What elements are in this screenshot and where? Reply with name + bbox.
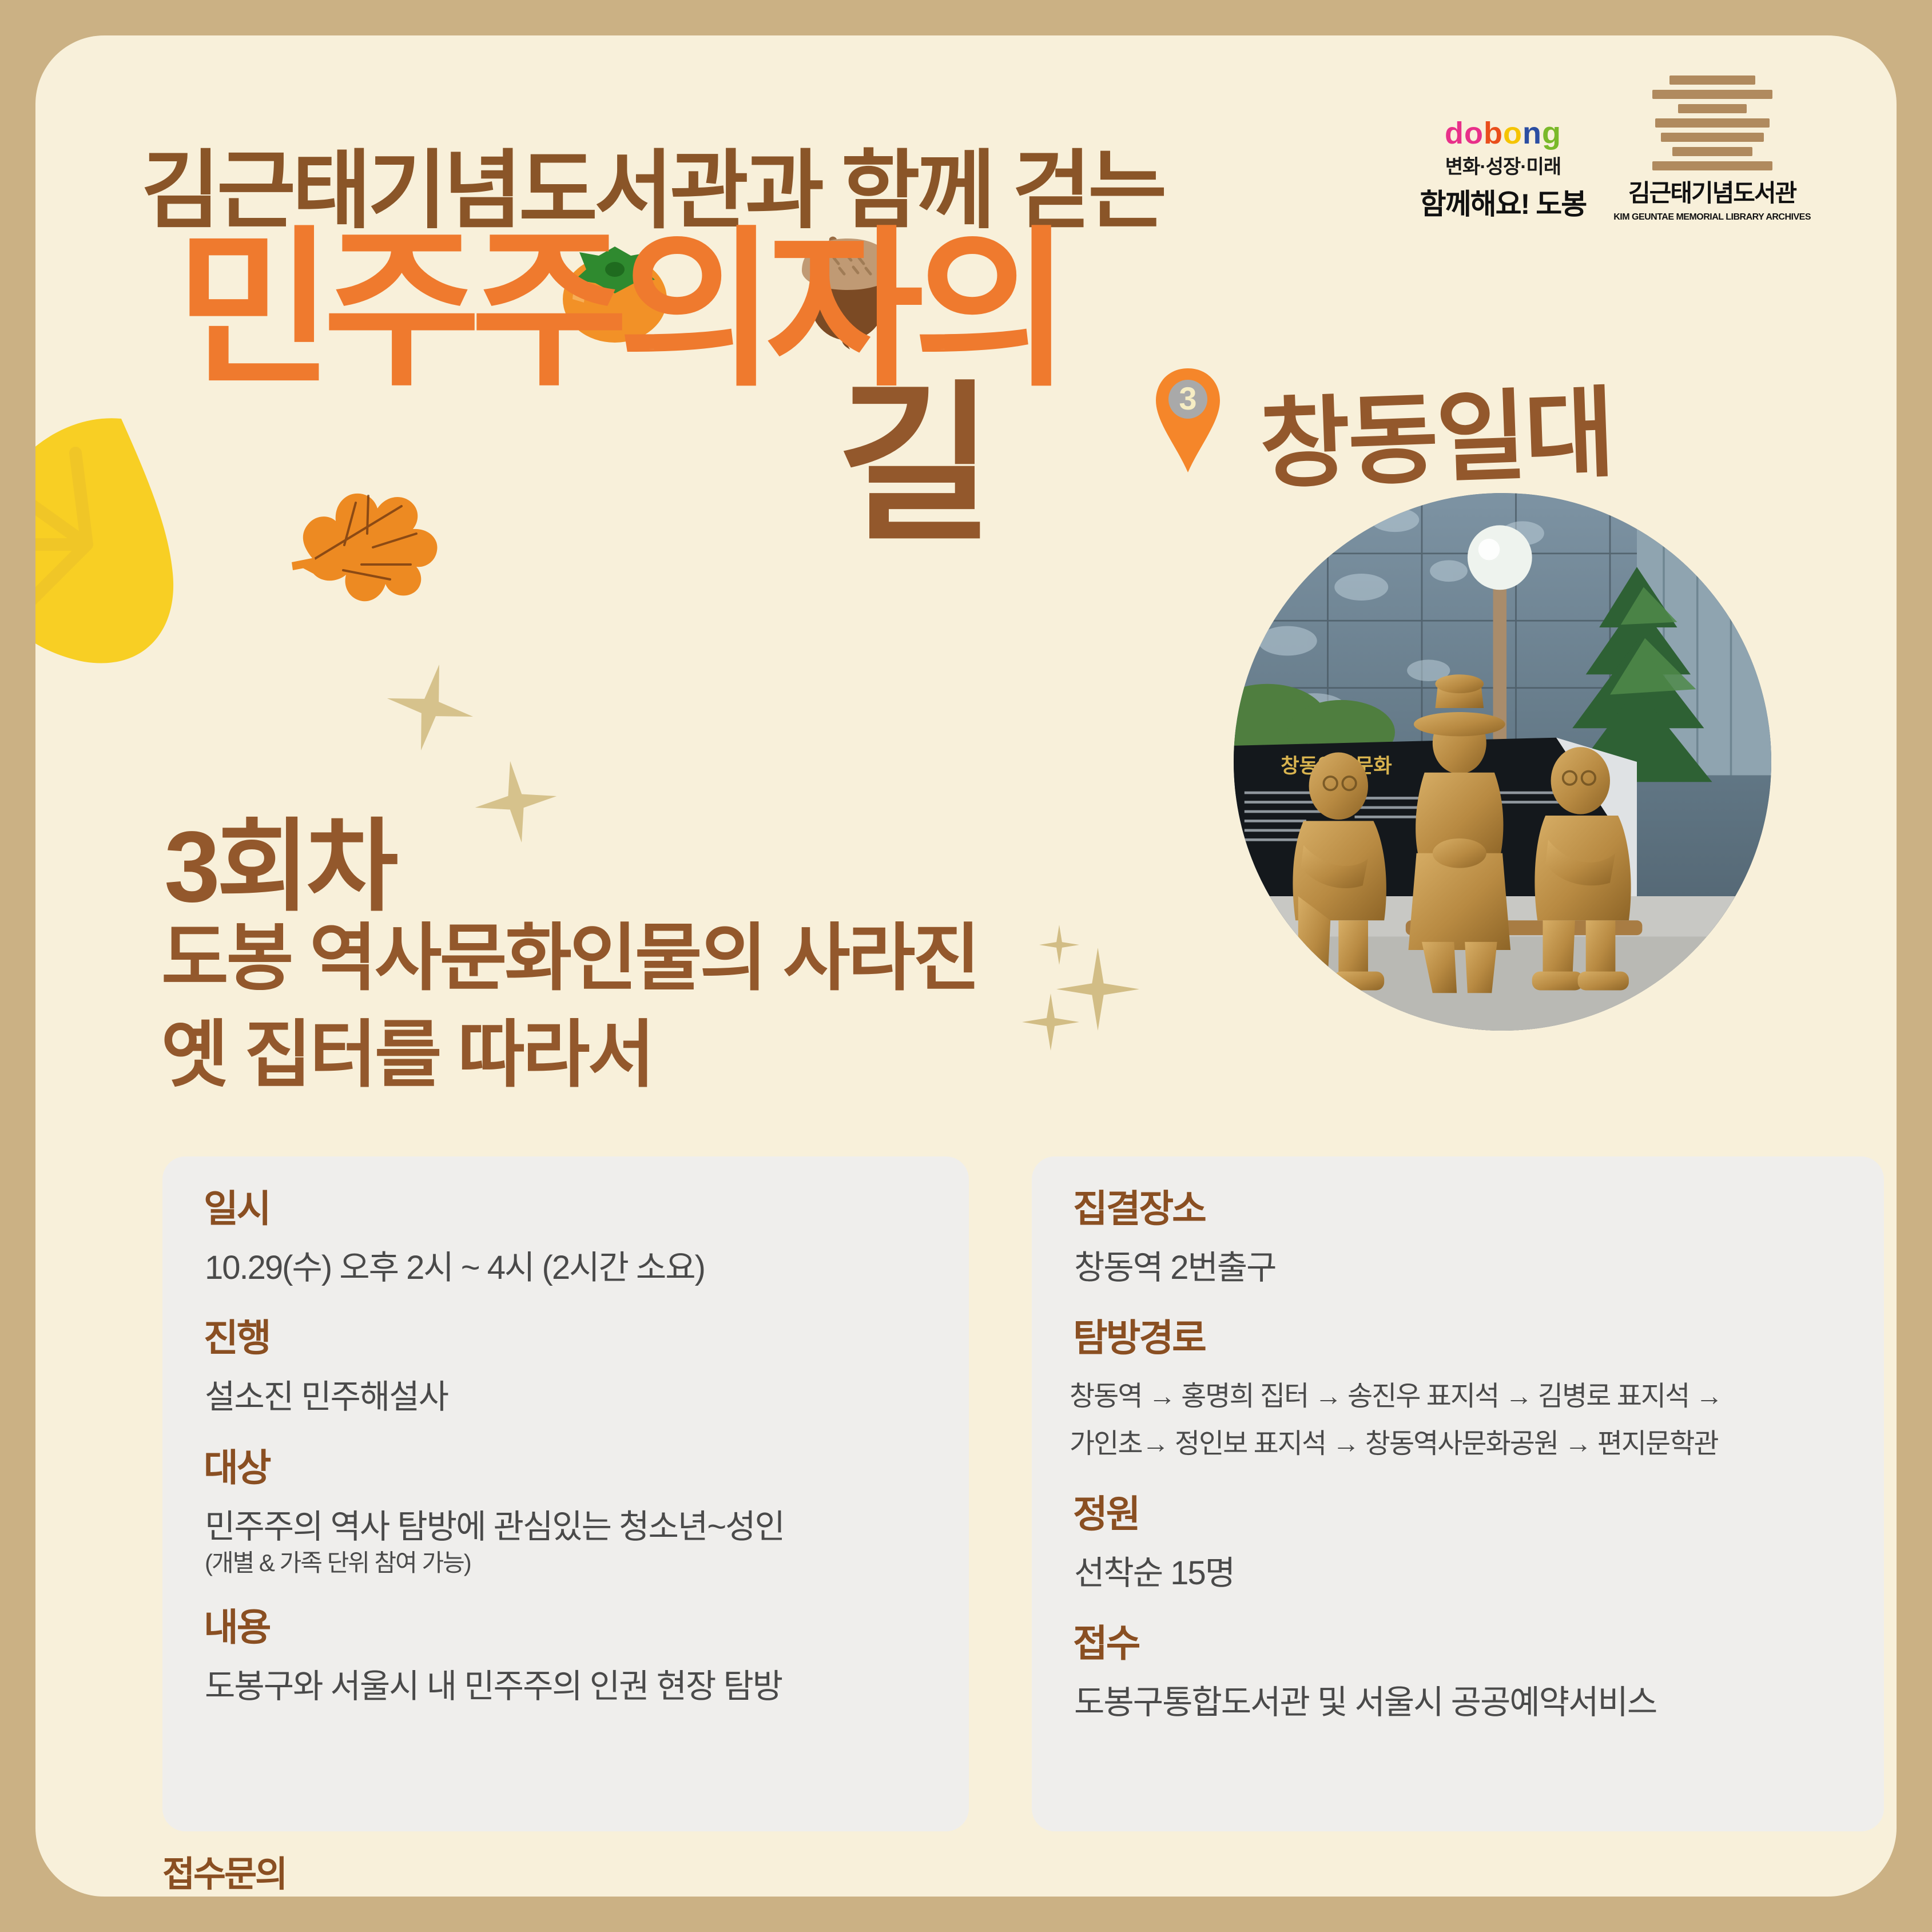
dobong-slogan: 함께해요! 도봉 [1420,181,1587,222]
library-bars-icon [1652,75,1772,170]
poster-panel: dobong 변화·성장·미래 함께해요! 도봉 김근태기념도서관 KIM GE… [35,35,1897,1897]
field-value-datetime: 10.29(수) 오후 2시 ~ 4시 (2시간 소요) [205,1246,933,1290]
field-datetime: 일시 10.29(수) 오후 2시 ~ 4시 (2시간 소요) [198,1187,933,1290]
field-label-audience: 대상 [198,1446,275,1492]
star-decoration [467,753,564,850]
area-name: 창동일대 [1257,352,1615,507]
oak-leaf-decoration [281,479,447,610]
field-registration: 접수 도봉구통합도서관 및 서울시 공공예약서비스 [1067,1622,1848,1725]
field-capacity: 정원 선착순 15명 [1067,1493,1848,1596]
library-logo: 김근태기념도서관 KIM GEUNTAE MEMORIAL LIBRARY AR… [1613,75,1811,222]
field-value-capacity: 선착순 15명 [1074,1551,1848,1596]
field-meeting-point: 집결장소 창동역 2번출구 [1067,1187,1848,1290]
field-value-host: 설소진 민주해설사 [205,1375,933,1420]
field-value-audience-note: (개별 & 가족 단위 참여 가능) [205,1547,933,1580]
library-name-en: KIM GEUNTAE MEMORIAL LIBRARY ARCHIVES [1613,212,1811,222]
statue-photo: 창동역사문화 [1234,493,1771,1031]
field-label-route: 탐방경로 [1067,1317,1211,1362]
field-route: 탐방경로 창동역 → 홍명희 집터 → 송진우 표지석 → 김병로 표지석 → … [1067,1317,1848,1466]
field-host: 진행 설소진 민주해설사 [198,1317,933,1420]
dobong-tagline: 변화·성장·미래 [1445,151,1561,179]
field-value-meeting-point: 창동역 2번출구 [1074,1246,1848,1290]
dobong-wordmark: dobong [1445,118,1561,149]
map-pin-icon: 3 [1154,366,1222,475]
field-value-registration: 도봉구통합도서관 및 서울시 공공예약서비스 [1074,1680,1848,1725]
field-label-content: 내용 [198,1606,275,1652]
field-label-host: 진행 [198,1317,275,1362]
star-decoration [376,653,484,762]
field-audience: 대상 민주주의 역사 탐방에 관심있는 청소년~성인 (개별 & 가족 단위 참… [198,1446,933,1580]
poster-root: dobong 변화·성장·미래 함께해요! 도봉 김근태기념도서관 KIM GE… [0,0,1932,1932]
session-number: 3회차 [164,785,395,931]
pin-number-text: 3 [1179,380,1196,416]
field-value-audience: 민주주의 역사 탐방에 관심있는 청소년~성인 [205,1505,933,1549]
field-value-route-line2: 가인초→ 정인보 표지석 → 창동역사문화공원 → 편지문학관 [1070,1422,1848,1466]
field-label-registration: 접수 [1067,1622,1144,1668]
field-value-route-line1: 창동역 → 홍명희 집터 → 송진우 표지석 → 김병로 표지석 → [1070,1375,1848,1419]
session-desc-line2: 옛 집터를 따라서 [161,1007,978,1104]
ginkgo-leaf-decoration [35,401,224,670]
statue-photo-illustration: 창동역사문화 [1234,493,1771,1031]
field-label-meeting-point: 집결장소 [1067,1187,1211,1233]
dobong-logo: dobong 변화·성장·미래 함께해요! 도봉 [1420,118,1587,222]
field-label-datetime: 일시 [198,1187,275,1233]
library-name-ko: 김근태기념도서관 [1628,174,1796,209]
session-desc-line1: 도봉 역사문화인물의 사라진 [161,911,978,1007]
logo-group: dobong 변화·성장·미래 함께해요! 도봉 김근태기념도서관 KIM GE… [1420,75,1811,222]
field-label-capacity: 정원 [1067,1493,1144,1539]
headline-title-tail: 길 [836,379,988,550]
footer-label: 접수문의 [156,1843,293,1897]
info-card-left: 일시 10.29(수) 오후 2시 ~ 4시 (2시간 소요) 진행 설소진 민… [162,1156,969,1831]
field-content: 내용 도봉구와 서울시 내 민주주의 인권 현장 탐방 [198,1606,933,1709]
session-description: 도봉 역사문화인물의 사라진 옛 집터를 따라서 [161,911,978,1104]
sparkle-decoration [1022,993,1079,1051]
info-card-right: 집결장소 창동역 2번출구 탐방경로 창동역 → 홍명희 집터 → 송진우 표지… [1032,1156,1884,1831]
field-value-content: 도봉구와 서울시 내 민주주의 인권 현장 탐방 [205,1664,933,1709]
